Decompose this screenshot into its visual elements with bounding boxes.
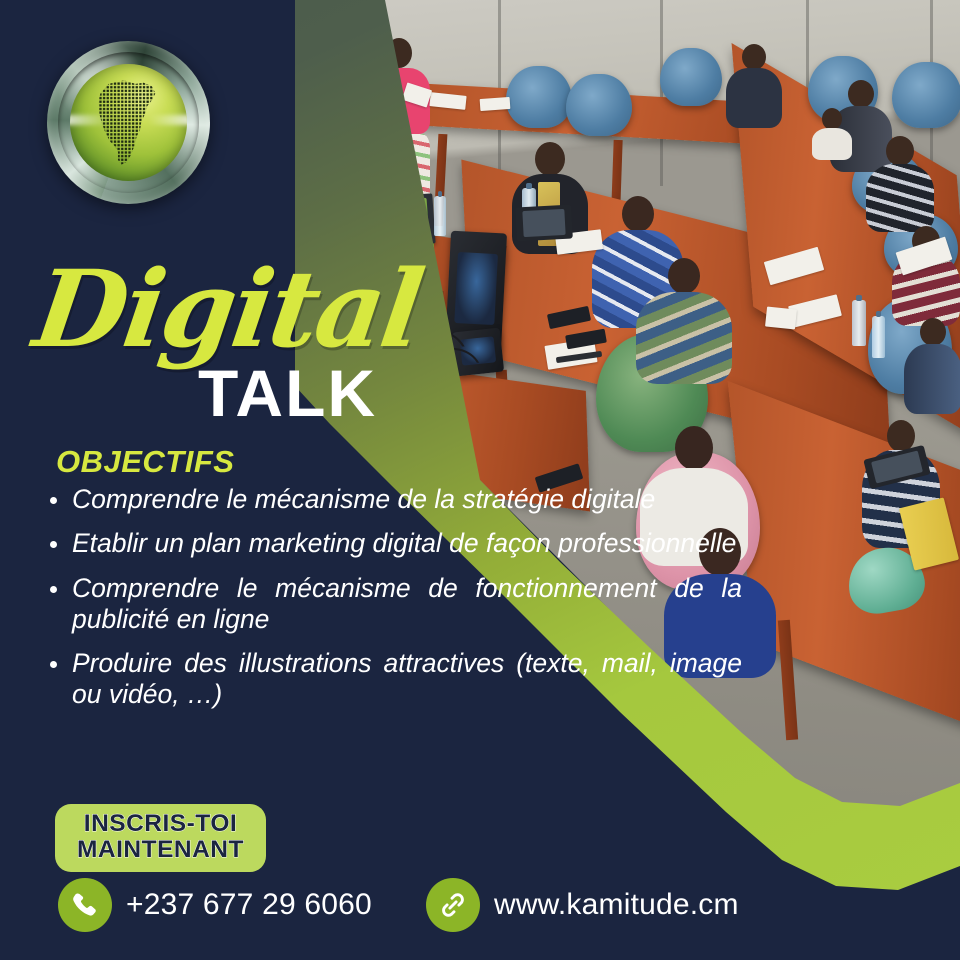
person-seated	[812, 108, 852, 160]
list-item-text: Produire des illustrations attractives (…	[72, 648, 742, 711]
africa-map-icon	[70, 64, 187, 181]
objectives-list: Comprendre le mécanisme de la stratégie …	[42, 484, 742, 724]
list-item: Etablir un plan marketing digital de faç…	[42, 528, 742, 559]
phone-number: +237 677 29 6060	[126, 888, 372, 922]
water-bottle	[872, 316, 885, 358]
contact-bar: +237 677 29 6060 www.kamitude.cm	[58, 878, 739, 932]
paper	[480, 97, 511, 111]
contact-phone[interactable]: +237 677 29 6060	[58, 878, 372, 932]
cta-line-1: INSCRIS-TOI	[77, 811, 244, 837]
chair	[892, 62, 960, 128]
logo-face	[70, 64, 187, 181]
flyer-poster: Digital TALK OBJECTIFS Comprendre le méc…	[0, 0, 960, 960]
website-url: www.kamitude.cm	[494, 888, 739, 922]
list-item: Comprendre le mécanisme de fonctionnemen…	[42, 573, 742, 636]
person-seated	[636, 258, 732, 384]
person-seated	[892, 226, 960, 326]
contact-website[interactable]: www.kamitude.cm	[426, 878, 739, 932]
person-seated	[904, 318, 960, 414]
water-bottle	[852, 300, 866, 346]
paper	[299, 216, 345, 241]
list-item-text: Comprendre le mécanisme de la stratégie …	[72, 484, 655, 515]
person-seated	[866, 136, 934, 232]
phone-icon	[58, 878, 112, 932]
list-item: Produire des illustrations attractives (…	[42, 648, 742, 711]
link-icon	[426, 878, 480, 932]
chair	[660, 48, 722, 106]
list-item-text: Etablir un plan marketing digital de faç…	[72, 528, 736, 559]
list-item: Comprendre le mécanisme de la stratégie …	[42, 484, 742, 515]
chair	[566, 74, 632, 136]
register-now-button[interactable]: INSCRIS-TOI MAINTENANT	[55, 804, 266, 872]
person-seated	[726, 44, 782, 128]
tablet	[515, 205, 573, 242]
objectives-heading: OBJECTIFS	[56, 444, 234, 480]
cta-line-2: MAINTENANT	[77, 837, 244, 863]
africa-globe-logo	[47, 41, 210, 204]
water-bottle	[434, 196, 446, 236]
title-bold: TALK	[198, 360, 377, 426]
laptop-screen	[361, 198, 430, 243]
list-item-text: Comprendre le mécanisme de fonctionnemen…	[72, 573, 742, 636]
chair	[506, 66, 572, 128]
paper	[765, 306, 797, 329]
title-script: Digital	[29, 256, 427, 362]
